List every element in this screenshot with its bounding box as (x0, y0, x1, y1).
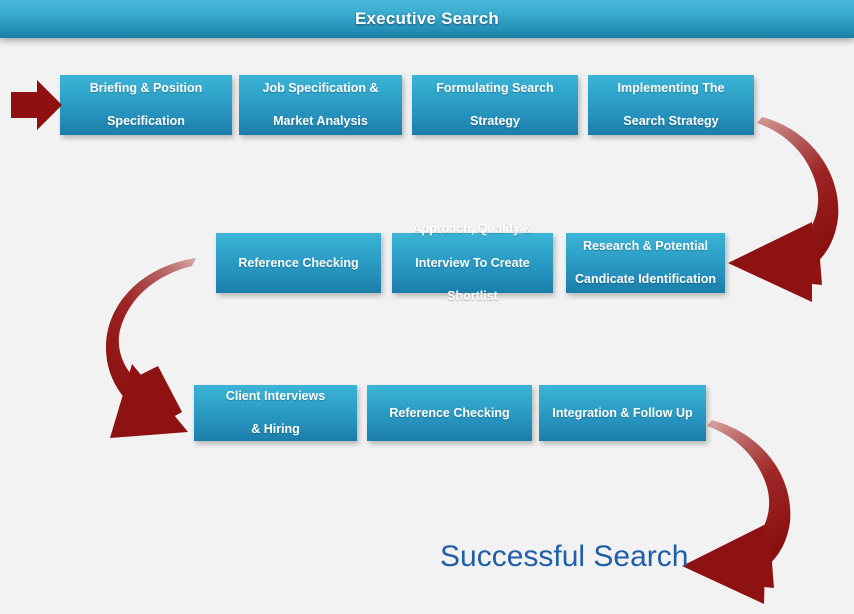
process-box-label: Reference Checking (222, 255, 375, 272)
process-box-label: Research & PotentialCandicate Identifica… (572, 238, 719, 289)
header-bar: Executive Search (0, 0, 854, 38)
process-box-label: Job Specification &Market Analysis (245, 80, 396, 131)
process-box-client-interviews-hiring[interactable]: Client Interviews& Hiring (194, 385, 357, 441)
curved-arrow-row1-to-row2 (728, 117, 838, 302)
curved-arrow-row3-to-outcome (682, 420, 790, 604)
process-box-label: Client Interviews& Hiring (200, 388, 351, 439)
page-title: Executive Search (0, 0, 854, 38)
process-box-implementing-search-strategy[interactable]: Implementing TheSearch Strategy (588, 75, 754, 135)
process-box-reference-checking-1[interactable]: Reference Checking (216, 233, 381, 293)
process-box-job-specification-market-analysis[interactable]: Job Specification &Market Analysis (239, 75, 402, 135)
successful-search-label: Successful Search (440, 540, 688, 574)
process-box-approach-qualify-interview[interactable]: Approach, Qualify &Interview To CreateSh… (392, 233, 553, 293)
process-box-label: Integration & Follow Up (545, 405, 700, 422)
process-box-label: Implementing TheSearch Strategy (594, 80, 748, 131)
process-box-briefing-position-specification[interactable]: Briefing & PositionSpecification (60, 75, 232, 135)
process-box-label: Formulating SearchStrategy (418, 80, 572, 131)
process-box-label: Briefing & PositionSpecification (66, 80, 226, 131)
process-box-integration-follow-up[interactable]: Integration & Follow Up (539, 385, 706, 441)
process-box-label: Reference Checking (373, 405, 526, 422)
process-box-label: Approach, Qualify &Interview To CreateSh… (398, 221, 547, 305)
diagram-canvas: Executive Search (0, 0, 854, 614)
process-box-reference-checking-2[interactable]: Reference Checking (367, 385, 532, 441)
right-arrow-icon (11, 80, 62, 130)
process-box-formulating-search-strategy[interactable]: Formulating SearchStrategy (412, 75, 578, 135)
curved-arrow-row2-to-row3 (106, 258, 196, 438)
process-box-research-candidate-identification[interactable]: Research & PotentialCandicate Identifica… (566, 233, 725, 293)
